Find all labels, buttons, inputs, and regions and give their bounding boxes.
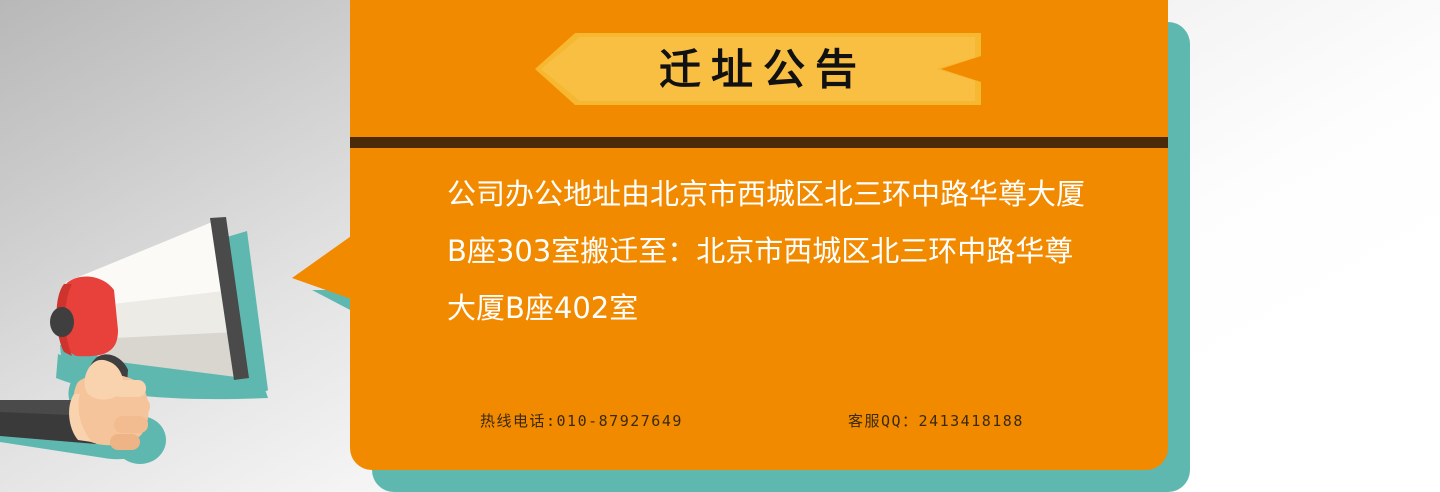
megaphone-illustration — [0, 190, 300, 492]
speech-tail — [292, 234, 354, 300]
hotline-phone: 热线电话:010-87927649 — [480, 410, 683, 431]
megaphone-body — [50, 276, 118, 356]
announcement-banner: 迁址公告 公司办公地址由北京市西城区北三环中路华尊大厦B座303室搬迁至：北京市… — [0, 0, 1440, 492]
footer-contacts: 热线电话:010-87927649 客服QQ：2413418188 — [480, 410, 1080, 434]
divider — [350, 137, 1168, 148]
service-qq: 客服QQ：2413418188 — [848, 410, 1024, 431]
page-title: 迁址公告 — [535, 40, 981, 100]
notice-body: 公司办公地址由北京市西城区北三环中路华尊大厦B座303室搬迁至：北京市西城区北三… — [447, 166, 1097, 337]
